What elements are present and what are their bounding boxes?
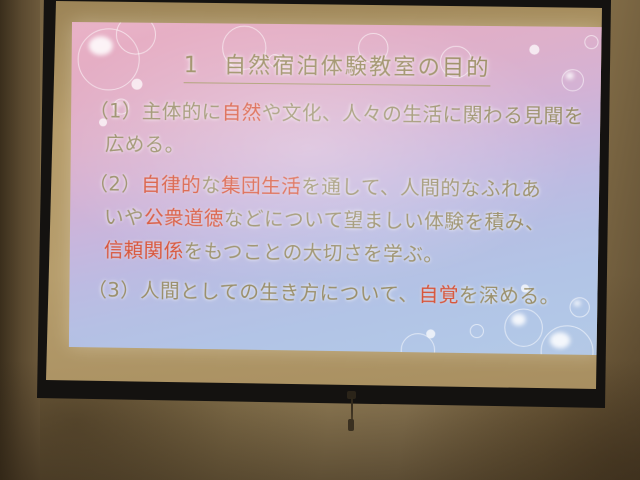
highlighted-keyword: 自覚 [418, 283, 459, 307]
body-text-run: いや [104, 205, 144, 229]
body-text-run: や文化、人々の生活に関わる見聞を [262, 101, 584, 128]
slide-body: （1）主体的に自然や文化、人々の生活に関わる見聞を広める。（2）自律的な集団生活… [87, 94, 592, 313]
body-text-run: を通して、人間的なふれあ [301, 175, 541, 201]
slide-body-line: （3）人間としての生き方について、自覚を深める。 [87, 273, 590, 313]
slide-content: 1 自然宿泊体験教室の目的 （1）主体的に自然や文化、人々の生活に関わる見聞を広… [69, 22, 603, 355]
pull-cord-handle[interactable] [348, 419, 354, 431]
screen-fabric: 1 自然宿泊体験教室の目的 （1）主体的に自然や文化、人々の生活に関わる見聞を広… [46, 1, 602, 397]
body-text-run: を深める。 [459, 283, 560, 308]
body-text-run: （1）主体的に [89, 99, 222, 124]
body-text-run: などについて望ましい体験を積み、 [224, 207, 545, 234]
projection-screen-unit: 1 自然宿泊体験教室の目的 （1）主体的に自然や文化、人々の生活に関わる見聞を広… [33, 0, 617, 414]
body-text-run: （2） [88, 172, 141, 196]
body-text-run: な [201, 174, 221, 197]
highlighted-keyword: 集団生活 [221, 174, 301, 198]
slide-body-line: 信頼関係をもつことの大切さを学ぶ。 [88, 233, 591, 273]
slide-title: 1 自然宿泊体験教室の目的 [184, 47, 491, 86]
highlighted-keyword: 信頼関係 [104, 238, 184, 262]
highlighted-keyword: 自然 [222, 101, 262, 125]
screen-pull-cord[interactable] [351, 396, 353, 421]
body-text-run: をもつことの大切さを学ぶ。 [184, 240, 444, 267]
highlighted-keyword: 自律的 [141, 173, 201, 197]
body-text-run: （3）人間としての生き方について、 [87, 278, 418, 306]
body-text-run: 広める。 [105, 132, 185, 156]
slide-body-line: 広める。 [89, 127, 592, 166]
highlighted-keyword: 公衆道徳 [144, 206, 224, 230]
projected-slide: 1 自然宿泊体験教室の目的 （1）主体的に自然や文化、人々の生活に関わる見聞を広… [69, 22, 603, 355]
